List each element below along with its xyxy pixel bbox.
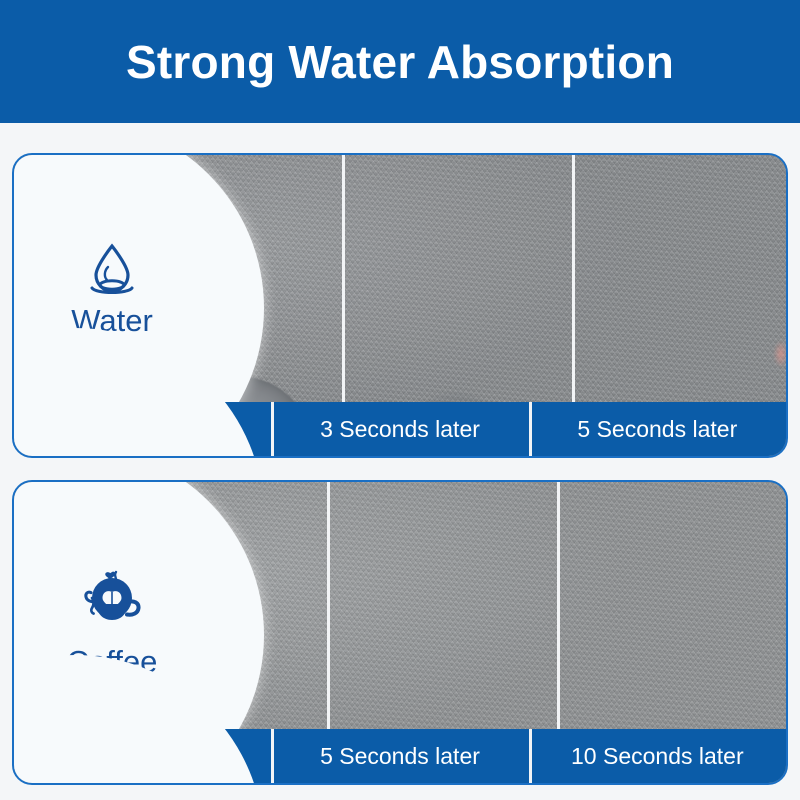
panel-label-water: Water <box>42 241 182 336</box>
surface-smudge <box>774 341 788 367</box>
panel-label-coffee: Coffee <box>42 568 182 677</box>
caption-coffee-stage-1: Water just drip on <box>14 729 271 783</box>
panel-label-text-water: Water <box>71 305 153 336</box>
caption-coffee-stage-3: 10 Seconds later <box>529 729 786 783</box>
header-banner: Strong Water Absorption <box>0 0 800 123</box>
caption-bar-water: Water just drip on 3 Seconds later 5 Sec… <box>14 402 786 456</box>
caption-water-stage-1: Water just drip on <box>14 402 271 456</box>
coffee-cup-icon <box>76 568 148 640</box>
caption-bar-coffee: Water just drip on 5 Seconds later 10 Se… <box>14 729 786 783</box>
page-title: Strong Water Absorption <box>126 35 674 89</box>
water-drop-icon <box>84 241 140 299</box>
infographic-page: Strong Water Absorption Water <box>0 0 800 800</box>
caption-water-stage-2: 3 Seconds later <box>271 402 528 456</box>
demo-panel-coffee: Coffee Water just drip on <box>12 480 788 785</box>
demo-panel-water: Water Water just drip <box>12 153 788 458</box>
caption-water-stage-3: 5 Seconds later <box>529 402 786 456</box>
caption-coffee-stage-2: 5 Seconds later <box>271 729 528 783</box>
panel-label-text-coffee: Coffee <box>67 646 158 677</box>
